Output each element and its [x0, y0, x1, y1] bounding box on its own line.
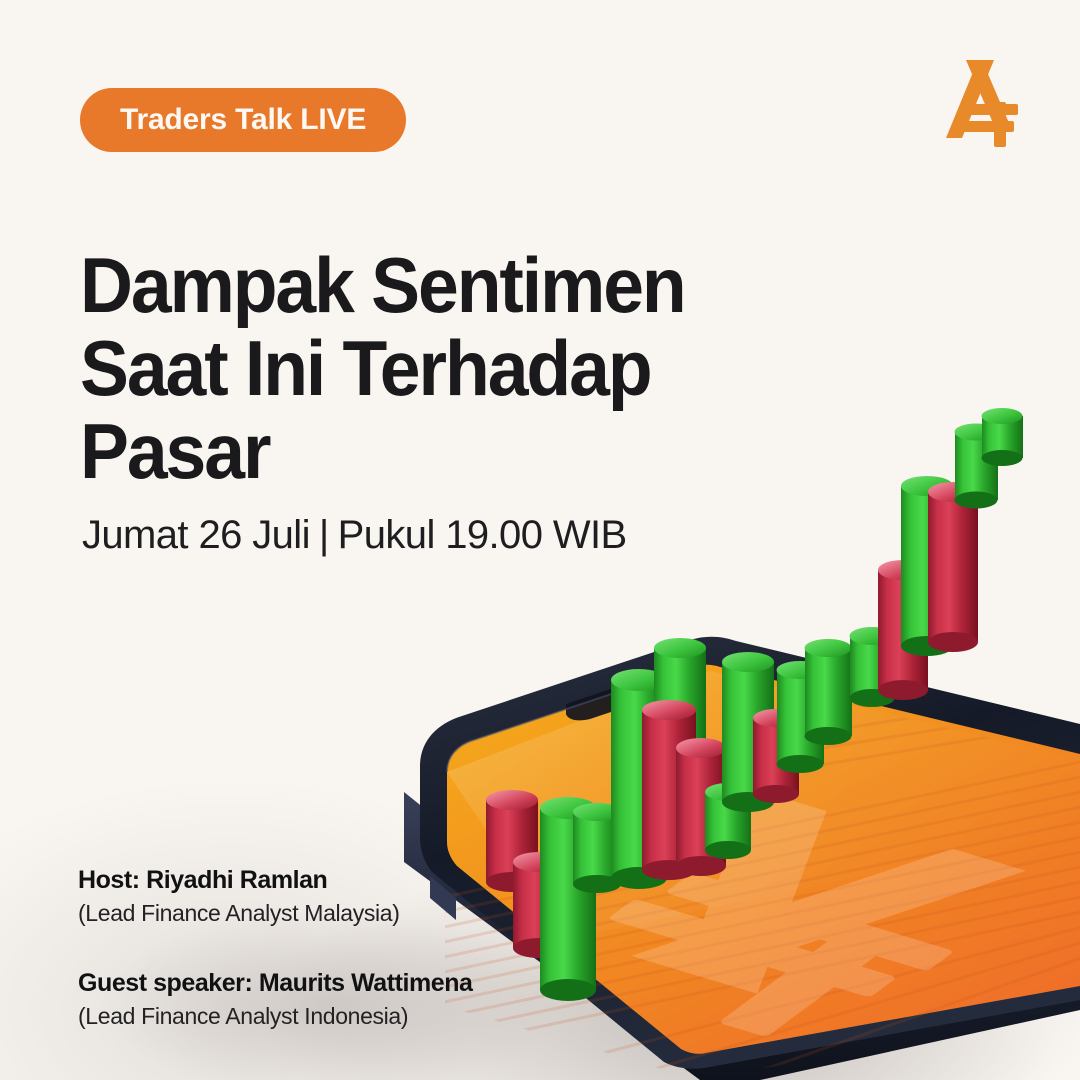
brand-logo [928, 52, 1032, 152]
guest-speaker-block: Guest speaker: Maurits Wattimena (Lead F… [78, 969, 473, 1030]
schedule-separator: | [310, 513, 338, 558]
host-name: Host: Riyadhi Ramlan [78, 866, 473, 895]
page-title: Dampak Sentimen Saat Ini Terhadap Pasar [80, 244, 840, 492]
event-schedule: Jumat 26 Juli|Pukul 19.00 WIB [82, 513, 627, 558]
poster-canvas: Traders Talk LIVE Dampak Sentimen Saat I… [0, 0, 1080, 1080]
guest-speaker-role: (Lead Finance Analyst Indonesia) [78, 1003, 473, 1030]
host-block: Host: Riyadhi Ramlan (Lead Finance Analy… [78, 866, 473, 927]
brand-a-icon [946, 60, 1018, 147]
headline-line-1: Dampak Sentimen [80, 244, 794, 327]
live-badge: Traders Talk LIVE [80, 88, 406, 152]
candle-10-bullish [722, 568, 774, 850]
event-time: Pukul 19.00 WIB [338, 513, 627, 557]
host-role: (Lead Finance Analyst Malaysia) [78, 900, 473, 927]
headline-line-2: Saat Ini Terhadap [80, 327, 794, 410]
speaker-list: Host: Riyadhi Ramlan (Lead Finance Analy… [78, 866, 473, 1030]
guest-speaker-name: Guest speaker: Maurits Wattimena [78, 969, 473, 998]
headline-line-3: Pasar [80, 410, 794, 493]
event-date: Jumat 26 Juli [82, 513, 310, 557]
